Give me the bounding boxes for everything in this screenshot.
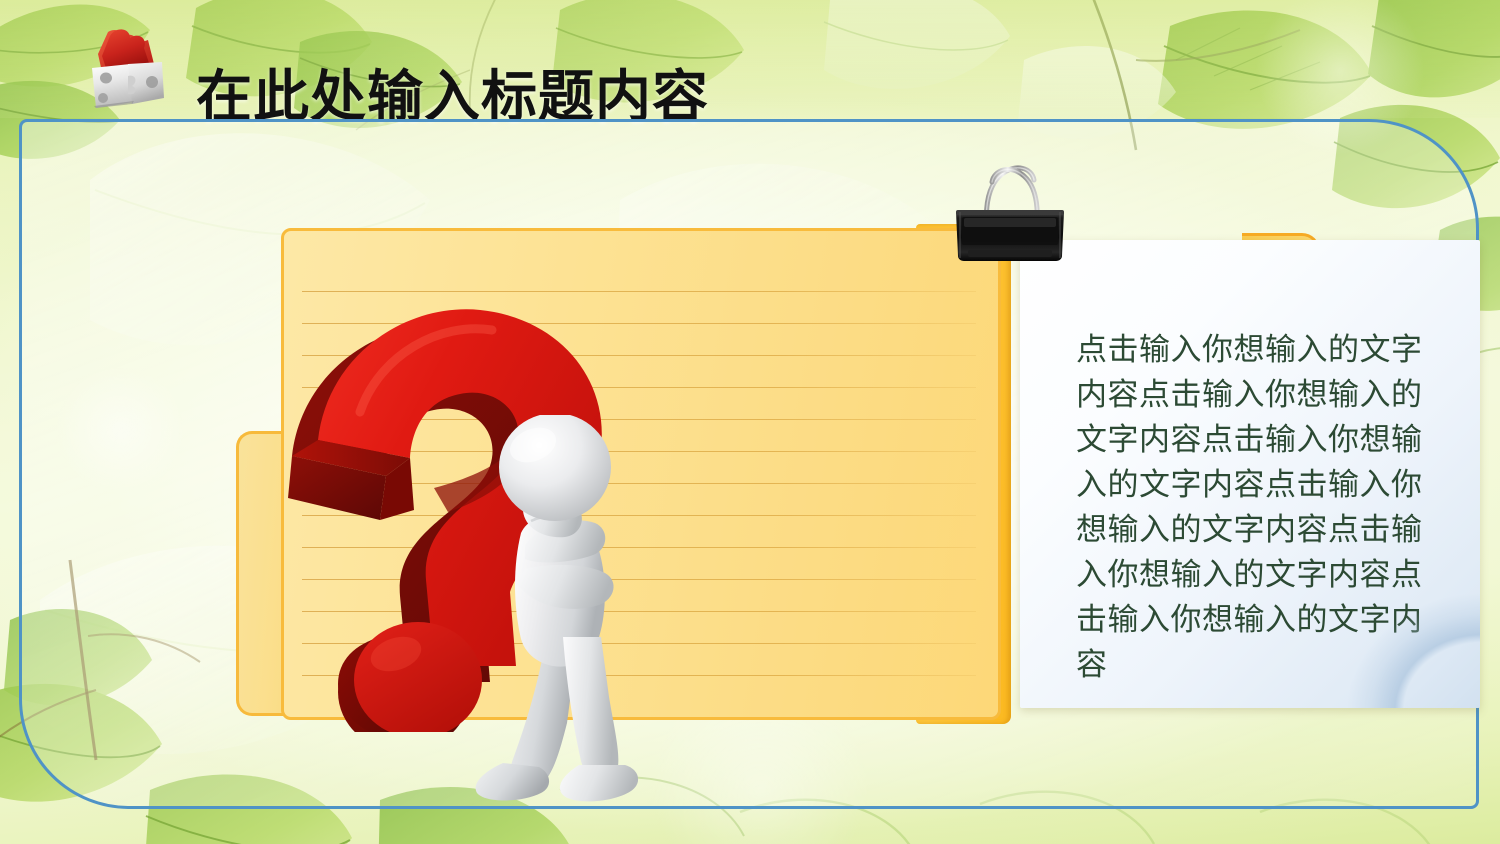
puzzle-pieces-icon xyxy=(78,24,174,116)
binder-clip-icon xyxy=(946,146,1074,274)
page-title: 在此处输入标题内容 xyxy=(196,69,709,125)
white-note-card[interactable]: 点击输入你想输入的文字内容点击输入你想输入的文字内容点击输入你想输入的文字内容点… xyxy=(1020,240,1480,708)
slide-root: 在此处输入标题内容 xyxy=(0,0,1500,844)
white-3d-thinking-person xyxy=(455,415,670,805)
note-corner-curl xyxy=(1342,590,1480,708)
